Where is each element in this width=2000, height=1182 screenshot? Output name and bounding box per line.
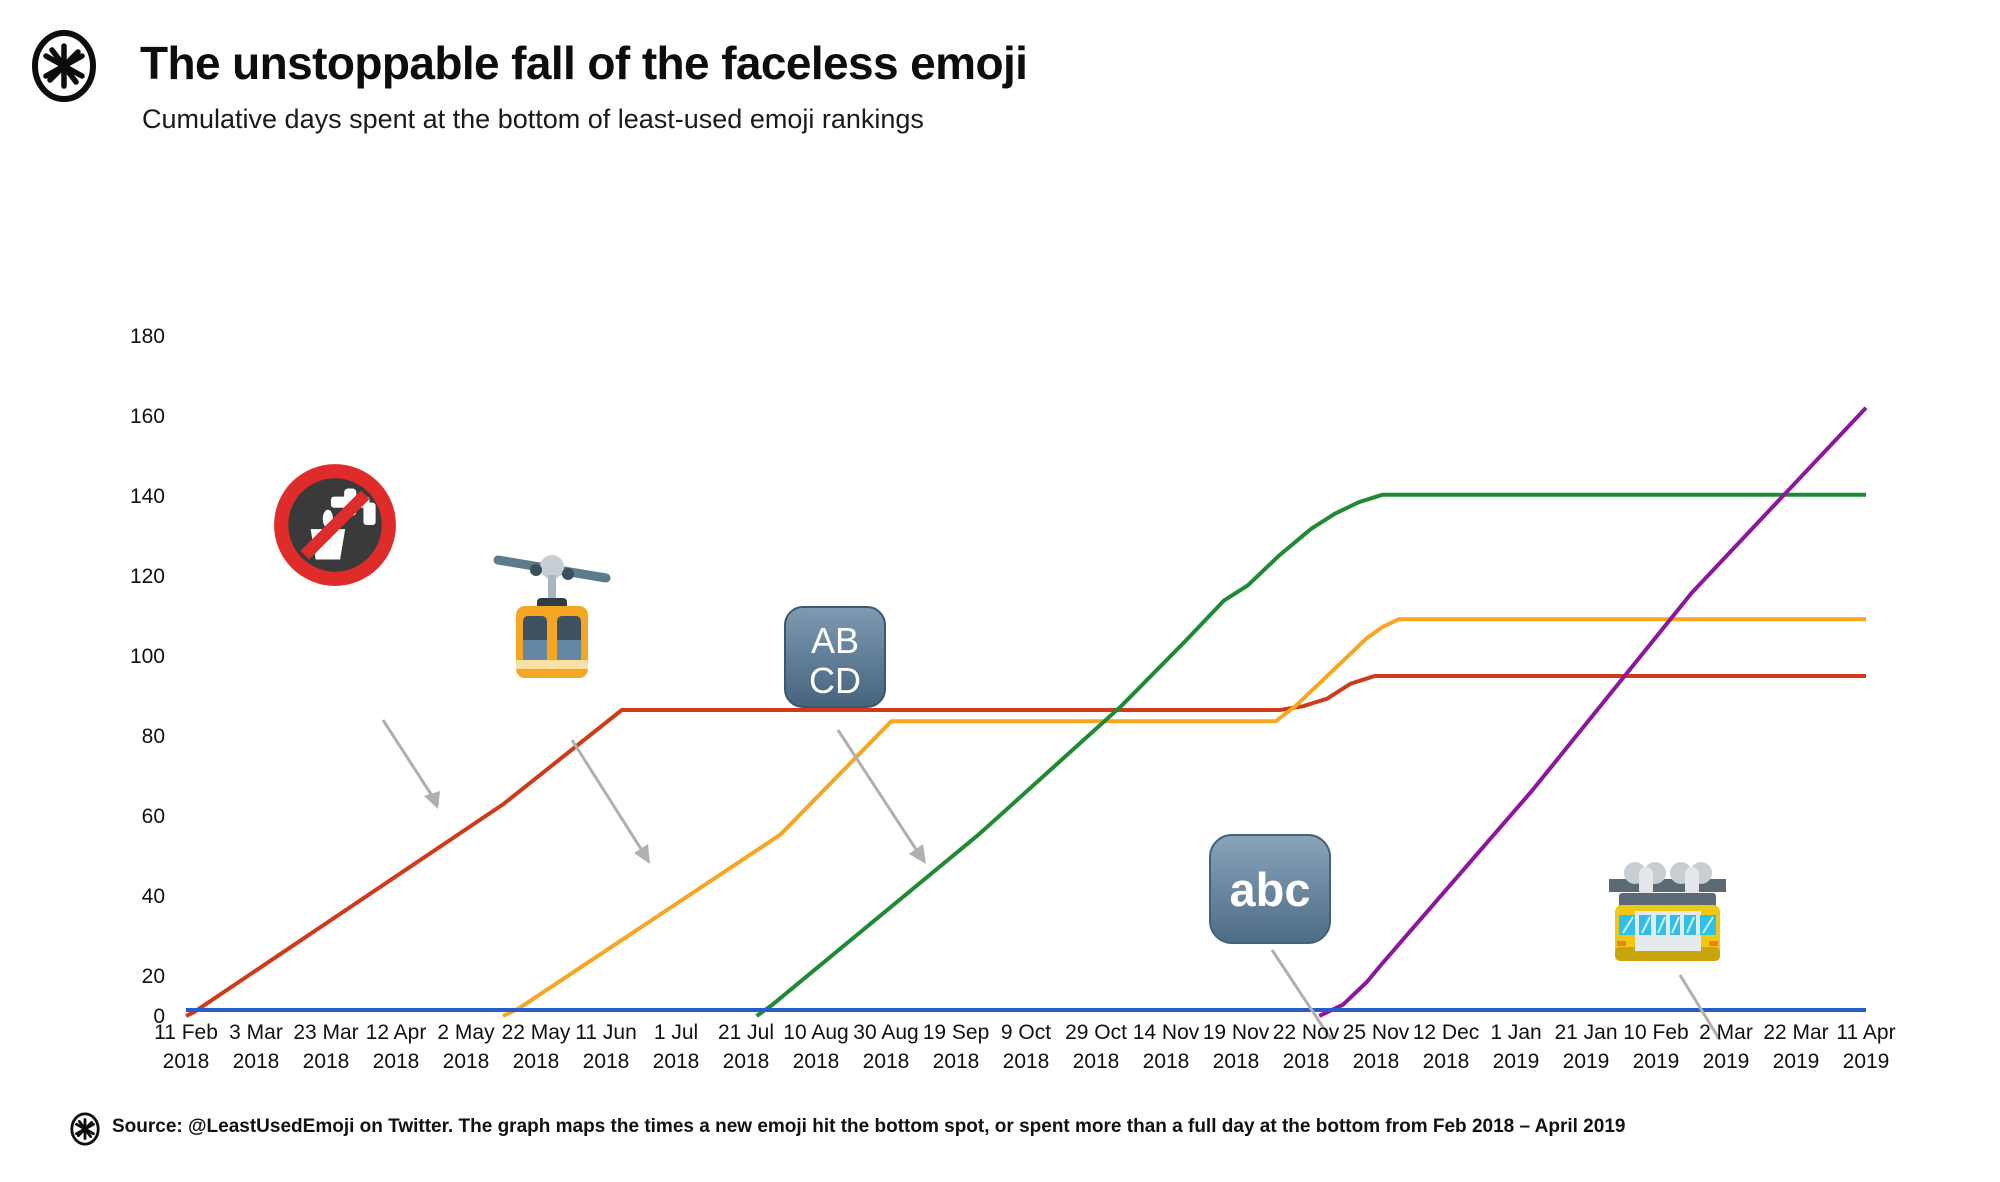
arrow-head-3: [909, 844, 926, 864]
y-tick-2: 140: [130, 485, 165, 508]
arrow-head-1: [424, 791, 440, 809]
y-tick-6: 60: [142, 805, 165, 828]
page-title: The unstoppable fall of the faceless emo…: [140, 36, 1027, 90]
series-line-mountain-cableway: [1319, 408, 1866, 1016]
y-tick-7: 40: [142, 885, 165, 908]
x-tick-year: 2019: [1806, 1047, 1926, 1076]
source-note: Source: @LeastUsedEmoji on Twitter. The …: [112, 1116, 1625, 1138]
y-tick-4: 100: [130, 645, 165, 668]
arrow-non-potable-water: [383, 720, 438, 805]
chart-plot-area: 180 160 140 120 100 80 60 40 20 0: [0, 150, 2000, 1040]
chart-subtitle: Cumulative days spent at the bottom of l…: [142, 104, 924, 135]
asterisk-circle-icon: [68, 1112, 102, 1146]
arrow-head-2: [634, 844, 650, 864]
y-tick-8: 20: [142, 965, 165, 988]
x-axis-labels: 11 Feb20183 Mar201823 Mar201812 Apr20182…: [0, 1018, 2000, 1088]
annotation-arrows: [383, 720, 1776, 1040]
arrow-aerial-tramway: [572, 740, 648, 860]
asterisk-circle-icon: [28, 30, 100, 102]
y-tick-3: 120: [130, 565, 165, 588]
y-tick-0: 180: [130, 325, 165, 348]
y-tick-5: 80: [142, 725, 165, 748]
y-axis-ticks: 180 160 140 120 100 80 60 40 20 0: [130, 325, 165, 1028]
x-tick-24: 11 Apr2019: [1806, 1018, 1926, 1076]
arrow-capital-abcd: [838, 730, 923, 860]
svg-text:AB: AB: [811, 620, 859, 661]
lowercase-abc-emoji-icon: abc: [1208, 833, 1332, 945]
svg-text:abc: abc: [1230, 863, 1311, 916]
y-tick-1: 160: [130, 405, 165, 428]
capital-abcd-emoji-icon: AB CD: [783, 605, 887, 709]
svg-text:CD: CD: [809, 660, 861, 701]
non-potable-water-emoji-icon: [270, 460, 400, 590]
aerial-tramway-emoji-icon: [492, 542, 612, 682]
chart-header: The unstoppable fall of the faceless emo…: [0, 0, 2000, 150]
x-tick-date: 11 Apr: [1806, 1018, 1926, 1047]
mountain-cableway-emoji-icon: [1605, 853, 1730, 973]
chart-footer: Source: @LeastUsedEmoji on Twitter. The …: [0, 1108, 2000, 1168]
